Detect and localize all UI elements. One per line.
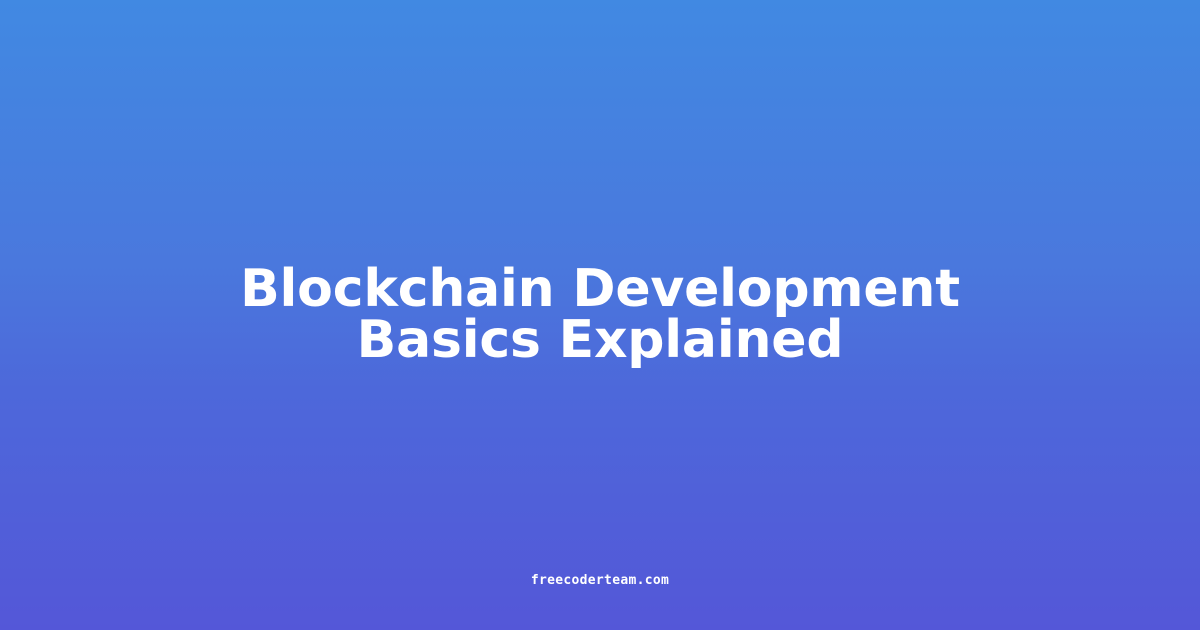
site-domain-label: freecoderteam.com: [531, 574, 669, 588]
social-share-card: Blockchain Development Basics Explained …: [0, 0, 1200, 630]
footer: freecoderteam.com: [0, 569, 1200, 588]
page-title: Blockchain Development Basics Explained: [220, 264, 980, 366]
title-block: Blockchain Development Basics Explained: [0, 0, 1200, 630]
